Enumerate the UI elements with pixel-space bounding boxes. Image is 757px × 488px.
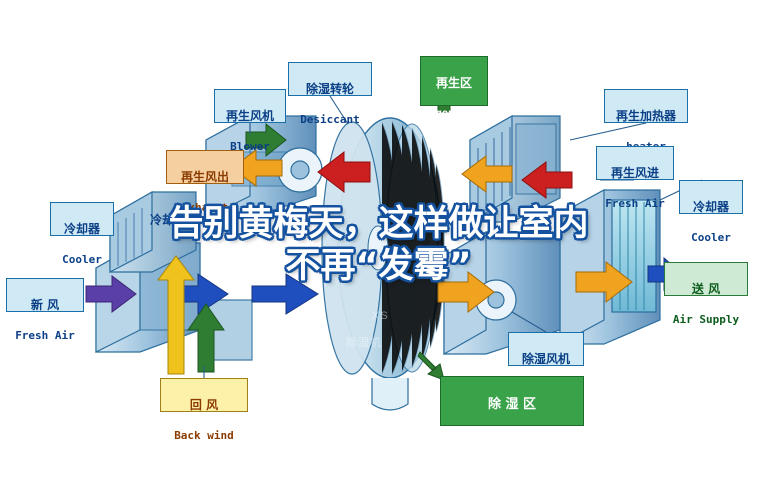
- label-dehumidification-blower: 除湿风机 Blower: [508, 332, 584, 366]
- label-regeneration-area: 再生区 Regenerati on Area: [420, 56, 488, 106]
- diagram-canvas: 除湿转轮 Desiccant 再生区 Regenerati on Area 再生…: [0, 0, 757, 488]
- label-cooler-center: 冷却哭: [140, 196, 196, 214]
- label-desiccant-wheel: 除湿转轮 Desiccant: [288, 62, 372, 96]
- dehumidifier-schematic: [0, 0, 757, 488]
- arrow-process-blue-2: [252, 274, 318, 314]
- watermark-center: XS: [372, 310, 389, 322]
- label-cooler-right: 冷却器 Cooler: [679, 180, 743, 214]
- label-air-supply: 送 风 Air Supply: [664, 262, 748, 296]
- watermark-secondary: 除湿机: [346, 334, 382, 350]
- label-fresh-air: 新 风 Fresh Air: [6, 278, 84, 312]
- label-regeneration-inlet: 再生风进 Fresh Air: [596, 146, 674, 180]
- label-cooler-left: 冷却器 Cooler: [50, 202, 114, 236]
- label-exhaust: 再生风出 Exhaust: [166, 150, 244, 184]
- label-back-wind: 回 风 Back wind: [160, 378, 248, 412]
- label-dehumidification-district: 除 湿 区 Dehumidification District: [440, 376, 584, 426]
- label-regeneration-blower: 再生风机 Blower: [214, 89, 286, 123]
- label-regeneration-heater: 再生加热器 heater: [604, 89, 688, 123]
